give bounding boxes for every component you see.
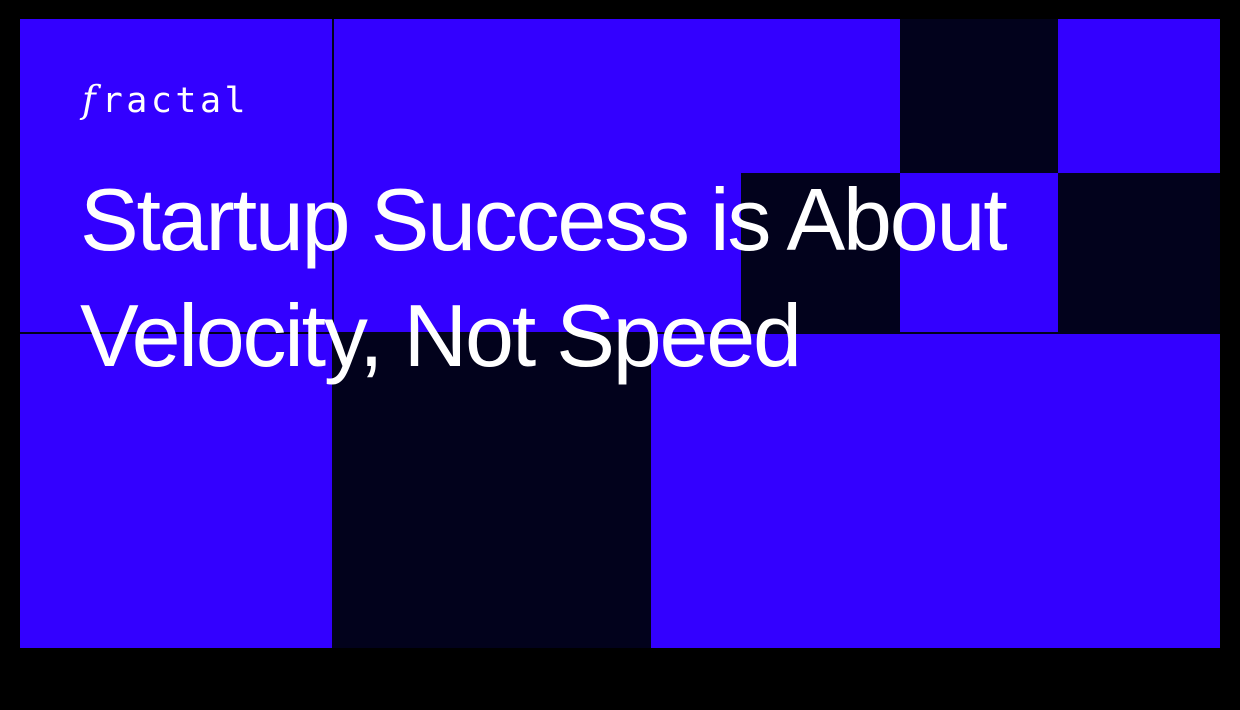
- mosaic-block-right: [1058, 173, 1220, 333]
- brand-logo-initial: f: [82, 78, 102, 121]
- mosaic-block-top-mid: [900, 19, 1058, 173]
- screenshot-stage: fractal Startup Success is About Velocit…: [0, 0, 1240, 710]
- page-title: Startup Success is About Velocity, Not S…: [80, 162, 1080, 394]
- hero-poster: fractal Startup Success is About Velocit…: [20, 19, 1220, 648]
- brand-logo-rest: ractal: [102, 81, 249, 121]
- brand-logo[interactable]: fractal: [82, 81, 249, 119]
